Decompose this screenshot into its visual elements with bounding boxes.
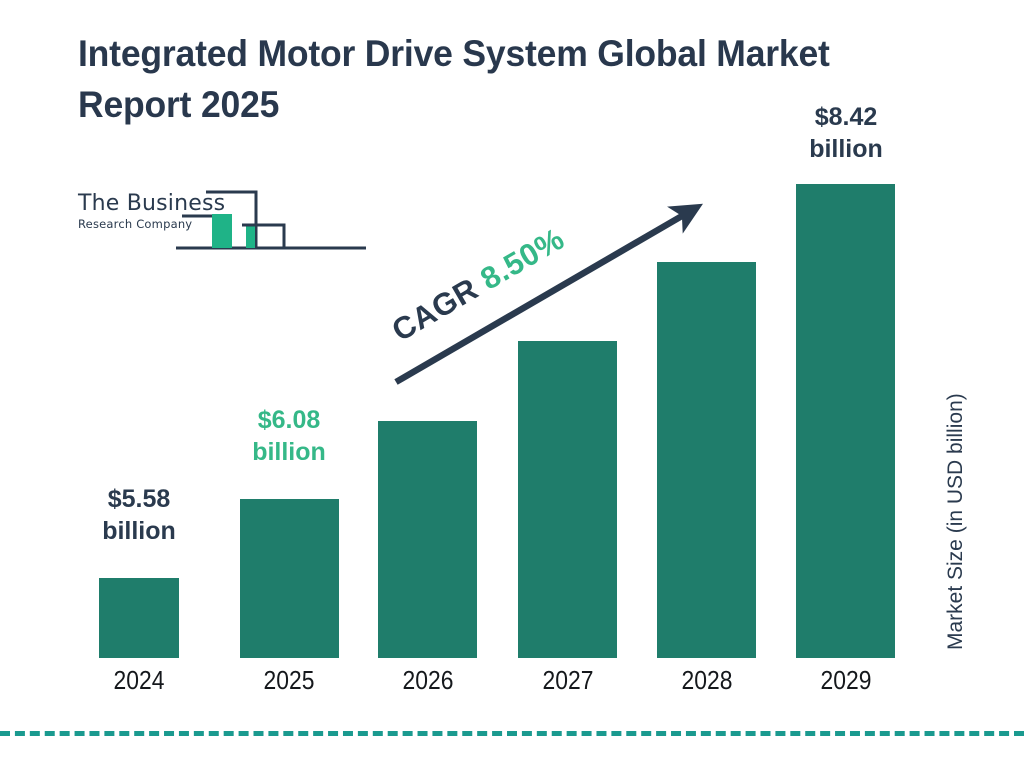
value-label-2025-unit: billion <box>228 436 350 468</box>
cagr-label: CAGR <box>386 271 484 348</box>
bar-chart-plot: $5.58 billion $6.08 billion $8.42 billio… <box>0 0 1024 768</box>
value-label-2029-unit: billion <box>785 133 907 165</box>
bar-2028 <box>657 262 756 658</box>
cagr-annotation: CAGR 8.50% <box>386 221 571 349</box>
x-tick-2025: 2025 <box>245 665 333 696</box>
x-tick-2028: 2028 <box>663 665 751 696</box>
value-label-2025: $6.08 billion <box>228 404 350 468</box>
footer-divider <box>0 731 1024 736</box>
bar-2027 <box>518 341 617 658</box>
value-label-2025-amount: $6.08 <box>228 404 350 436</box>
value-label-2024: $5.58 billion <box>78 483 200 547</box>
y-axis-label: Market Size (in USD billion) <box>944 393 968 650</box>
x-tick-2026: 2026 <box>384 665 472 696</box>
value-label-2024-unit: billion <box>78 515 200 547</box>
x-tick-2027: 2027 <box>524 665 612 696</box>
bar-2026 <box>378 421 477 658</box>
x-tick-2029: 2029 <box>802 665 890 696</box>
value-label-2024-amount: $5.58 <box>78 483 200 515</box>
bar-2029 <box>796 184 895 658</box>
cagr-value: 8.50% <box>474 221 570 297</box>
bar-2024 <box>99 578 179 658</box>
bar-2025 <box>240 499 339 658</box>
value-label-2029-amount: $8.42 <box>785 101 907 133</box>
value-label-2029: $8.42 billion <box>785 101 907 165</box>
x-tick-2024: 2024 <box>95 665 183 696</box>
